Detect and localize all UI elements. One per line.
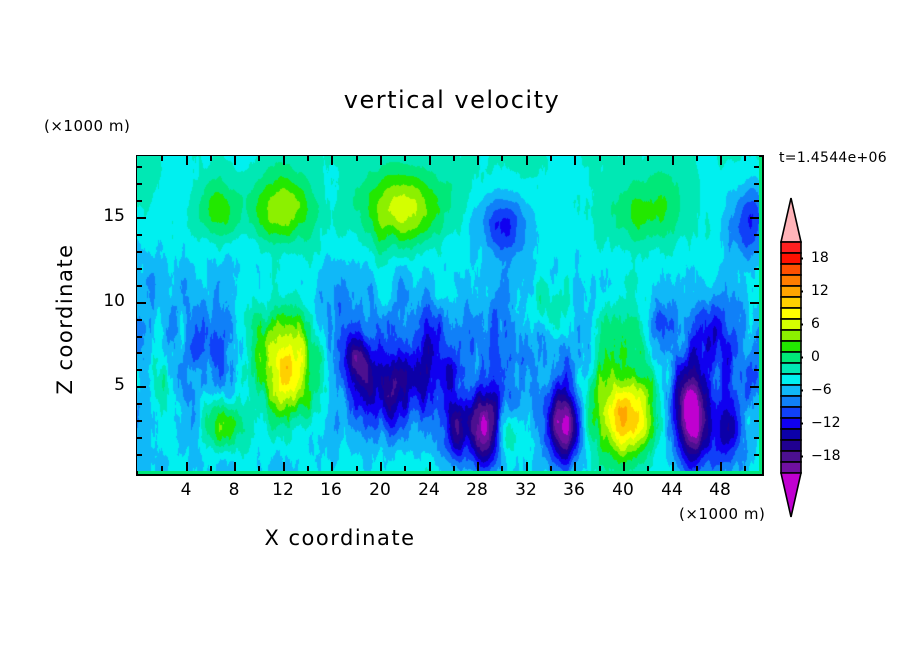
axis-tick xyxy=(234,462,236,471)
axis-tick xyxy=(647,466,649,471)
axis-tick xyxy=(750,302,759,304)
x-axis-title: X coordinate xyxy=(0,526,680,550)
axis-tick xyxy=(754,234,759,236)
axis-tick xyxy=(137,437,142,439)
axis-tick xyxy=(754,369,759,371)
axis-tick xyxy=(744,466,746,471)
axis-tick xyxy=(356,156,358,161)
colorbar-tick-label: −12 xyxy=(811,415,841,431)
axis-tick xyxy=(647,156,649,161)
colorbar-tick-label: −18 xyxy=(811,448,841,464)
axis-tick xyxy=(137,268,142,270)
axis-tick xyxy=(623,156,625,165)
x-tick-label: 44 xyxy=(652,480,692,500)
x-tick-label: 12 xyxy=(263,480,303,500)
axis-tick xyxy=(429,156,431,165)
axis-tick xyxy=(526,462,528,471)
axis-tick xyxy=(137,403,142,405)
x-tick-label: 28 xyxy=(457,480,497,500)
colorbar-tick-label: 18 xyxy=(811,250,829,266)
axis-tick xyxy=(744,156,746,161)
axis-tick xyxy=(137,369,142,371)
axis-tick xyxy=(754,251,759,253)
colorbar-tick-label: 12 xyxy=(811,283,829,299)
axis-tick xyxy=(550,156,552,161)
axis-tick xyxy=(453,466,455,471)
axis-tick xyxy=(754,454,759,456)
axis-tick xyxy=(137,200,142,202)
axis-tick xyxy=(754,319,759,321)
axis-tick xyxy=(137,166,142,168)
colorbar-tick-label: −6 xyxy=(811,382,832,398)
axis-tick xyxy=(210,156,212,161)
axis-tick xyxy=(599,466,601,471)
axis-tick xyxy=(754,403,759,405)
axis-tick xyxy=(137,183,142,185)
y-tick-label: 15 xyxy=(85,206,125,226)
axis-tick xyxy=(307,466,309,471)
axis-tick xyxy=(137,352,142,354)
axis-tick xyxy=(137,234,142,236)
axis-tick xyxy=(750,386,759,388)
x-tick-label: 32 xyxy=(506,480,546,500)
x-tick-label: 16 xyxy=(311,480,351,500)
axis-tick xyxy=(331,156,333,165)
axis-tick xyxy=(331,462,333,471)
axis-tick xyxy=(404,156,406,161)
axis-tick xyxy=(477,156,479,165)
axis-tick xyxy=(137,302,146,304)
axis-tick xyxy=(307,156,309,161)
axis-tick xyxy=(754,336,759,338)
axis-tick xyxy=(283,156,285,165)
x-tick-label: 20 xyxy=(360,480,400,500)
contour-field xyxy=(137,156,759,471)
colorbar-tick-label: 0 xyxy=(811,349,820,365)
axis-tick xyxy=(754,166,759,168)
page-title: vertical velocity xyxy=(0,86,904,114)
axis-tick xyxy=(754,285,759,287)
axis-tick xyxy=(186,156,188,165)
axis-tick xyxy=(210,466,212,471)
axis-tick xyxy=(501,156,503,161)
axis-tick xyxy=(137,285,142,287)
axis-tick xyxy=(696,466,698,471)
x-axis-unit-label: (×1000 m) xyxy=(679,505,765,523)
axis-tick xyxy=(137,336,142,338)
axis-tick xyxy=(501,466,503,471)
axis-tick xyxy=(283,462,285,471)
axis-tick xyxy=(720,156,722,165)
axis-tick xyxy=(356,466,358,471)
colorbar-swatches xyxy=(779,196,803,519)
axis-tick xyxy=(258,466,260,471)
axis-tick xyxy=(672,156,674,165)
timestamp-label: t=1.4544e+06 xyxy=(779,150,887,166)
axis-tick xyxy=(754,183,759,185)
axis-tick xyxy=(137,386,146,388)
axis-tick xyxy=(550,466,552,471)
figure-canvas: vertical velocity (×1000 m) (×1000 m) t=… xyxy=(0,0,904,654)
x-tick-label: 40 xyxy=(603,480,643,500)
colorbar-tick-label: 6 xyxy=(811,316,820,332)
axis-tick xyxy=(186,462,188,471)
axis-tick xyxy=(404,466,406,471)
x-tick-label: 4 xyxy=(166,480,206,500)
axis-tick xyxy=(754,352,759,354)
axis-tick xyxy=(137,454,142,456)
axis-tick xyxy=(380,462,382,471)
axis-tick xyxy=(754,437,759,439)
y-tick-label: 5 xyxy=(85,375,125,395)
axis-tick xyxy=(696,156,698,161)
axis-tick xyxy=(477,462,479,471)
x-tick-label: 24 xyxy=(409,480,449,500)
axis-tick xyxy=(453,156,455,161)
axis-tick xyxy=(754,268,759,270)
axis-tick xyxy=(234,156,236,165)
axis-tick xyxy=(526,156,528,165)
x-tick-label: 8 xyxy=(214,480,254,500)
axis-tick xyxy=(258,156,260,161)
axis-tick xyxy=(574,462,576,471)
axis-tick xyxy=(161,466,163,471)
axis-tick xyxy=(599,156,601,161)
axis-tick xyxy=(380,156,382,165)
axis-tick xyxy=(720,462,722,471)
axis-tick xyxy=(161,156,163,161)
axis-tick xyxy=(754,420,759,422)
axis-tick xyxy=(750,217,759,219)
x-tick-label: 48 xyxy=(700,480,740,500)
axis-tick xyxy=(137,217,146,219)
x-tick-label: 36 xyxy=(554,480,594,500)
axis-tick xyxy=(574,156,576,165)
axis-tick xyxy=(137,251,142,253)
y-axis-title: Z coordinate xyxy=(53,194,77,444)
y-tick-label: 10 xyxy=(85,291,125,311)
axis-tick xyxy=(137,420,142,422)
axis-tick xyxy=(672,462,674,471)
axis-tick xyxy=(623,462,625,471)
axis-tick xyxy=(754,200,759,202)
axis-tick xyxy=(429,462,431,471)
colorbar: 181260−6−12−18 xyxy=(779,196,803,523)
axis-tick xyxy=(137,319,142,321)
y-axis-unit-label: (×1000 m) xyxy=(44,117,130,135)
